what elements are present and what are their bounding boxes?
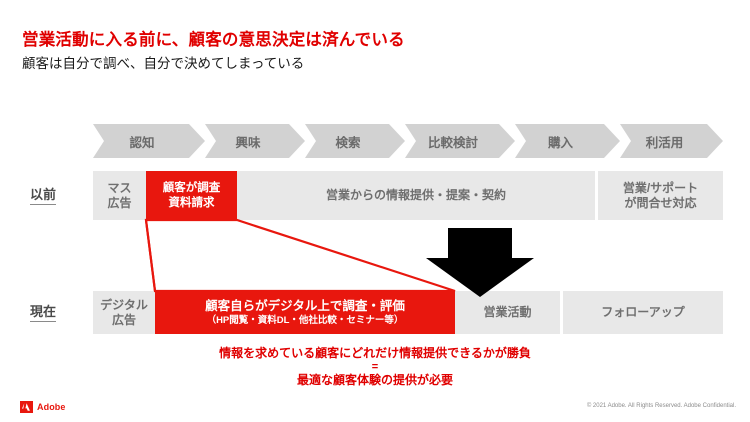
highlight-box-before: 顧客が調査 資料請求 [146, 171, 237, 220]
funnel-shape [146, 220, 455, 291]
now-cell-digital-ad-label: デジタル 広告 [100, 298, 148, 328]
stage-chevron-interest: 興味 [205, 124, 305, 158]
down-arrow-icon [426, 228, 534, 297]
copyright-text: © 2021 Adobe. All Rights Reserved. Adobe… [587, 403, 736, 409]
row-label-now: 現在 [30, 305, 56, 322]
page-title: 営業活動に入る前に、顧客の意思決定は済んでいる [22, 26, 405, 50]
highlight-box-before-line1: 顧客が調査 [163, 181, 221, 195]
before-cell-support: 営業/サポート が問合せ対応 [598, 171, 723, 220]
stage-label: 購入 [548, 132, 573, 151]
customer-journey-stage-row: 認知 興味 検索 比較検討 購入 利活用 [93, 124, 723, 158]
before-cell-sales-info-label: 営業からの情報提供・提案・契約 [326, 188, 506, 203]
caption-equals-sign: = [0, 361, 750, 373]
adobe-wordmark: Adobe [37, 402, 66, 412]
page-subtitle: 顧客は自分で調べ、自分で決めてしまっている [22, 52, 304, 72]
before-cell-mass-ad-label: マス 広告 [107, 181, 131, 211]
slide-footer: Adobe © 2021 Adobe. All Rights Reserved.… [0, 396, 750, 422]
row-label-before: 以前 [30, 188, 56, 205]
adobe-logo: Adobe [20, 401, 66, 413]
stage-chevron-purchase: 購入 [515, 124, 620, 158]
now-cell-sales-activity: 営業活動 [455, 291, 560, 334]
stage-label: 興味 [235, 132, 260, 151]
adobe-mark-icon [20, 401, 33, 413]
now-cell-digital-ad: デジタル 広告 [93, 291, 155, 334]
stage-label: 利活用 [646, 132, 684, 151]
before-cell-support-label: 営業/サポート が問合せ対応 [623, 181, 698, 211]
stage-label: 検索 [335, 132, 360, 151]
now-cell-sales-activity-label: 営業活動 [483, 305, 531, 320]
before-cell-sales-info: 営業からの情報提供・提案・契約 [237, 171, 595, 220]
funnel-left-edge [146, 220, 155, 291]
highlight-box-now-main: 顧客自らがデジタル上で調査・評価 [205, 299, 405, 314]
highlight-box-now-sub: （HP閲覧・資料DL・他社比較・セミナー等） [207, 315, 404, 327]
highlight-box-before-line2: 資料請求 [169, 196, 215, 210]
stage-chevron-search: 検索 [305, 124, 405, 158]
stage-chevron-usage: 利活用 [620, 124, 723, 158]
stage-label: 比較検討 [428, 132, 478, 151]
now-cell-follow-up-label: フォローアップ [601, 305, 685, 320]
stage-chevron-awareness: 認知 [93, 124, 205, 158]
highlight-box-now: 顧客自らがデジタル上で調査・評価 （HP閲覧・資料DL・他社比較・セミナー等） [155, 291, 455, 334]
stage-label: 認知 [129, 132, 154, 151]
before-cell-mass-ad: マス 広告 [93, 171, 146, 220]
caption-line-2: 最適な顧客体験の提供が必要 [0, 373, 750, 389]
now-cell-follow-up: フォローアップ [563, 291, 723, 334]
stage-chevron-comparison: 比較検討 [405, 124, 515, 158]
caption-line-1: 情報を求めている顧客にどれだけ情報提供できるかが勝負 [0, 346, 750, 361]
conclusion-caption: 情報を求めている顧客にどれだけ情報提供できるかが勝負 = 最適な顧客体験の提供が… [0, 346, 750, 389]
